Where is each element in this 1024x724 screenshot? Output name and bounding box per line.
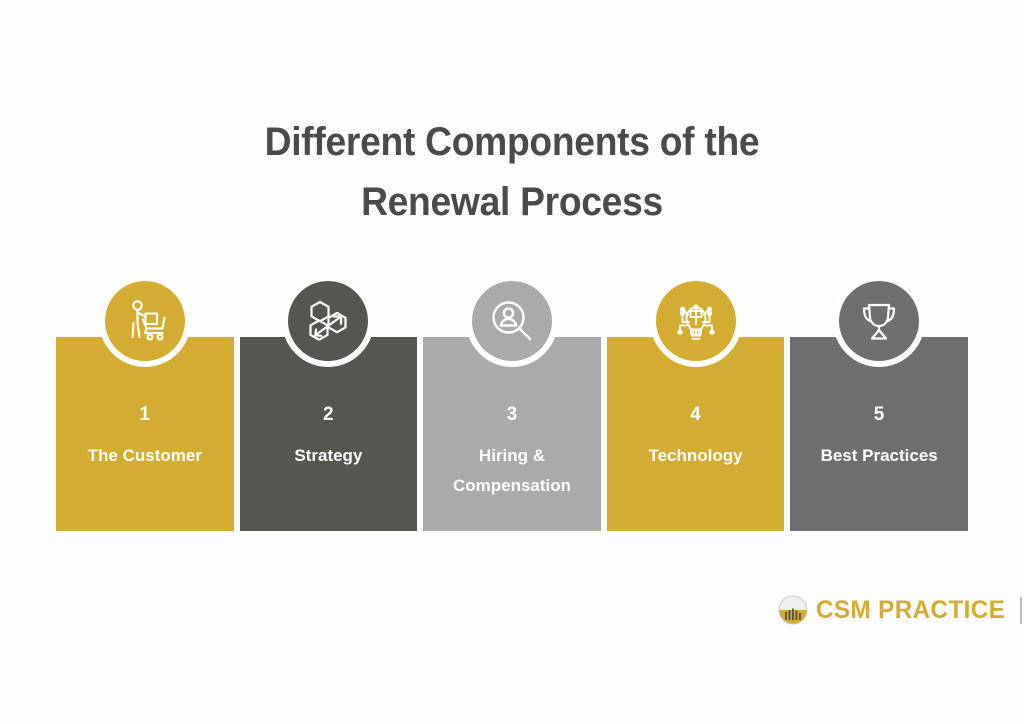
component-column-2[interactable]: 2 Strategy (240, 275, 418, 531)
column-label-5: Best Practices (815, 441, 944, 471)
page-title: Different Components of the Renewal Proc… (0, 112, 1024, 232)
component-column-5[interactable]: 5 Best Practices (790, 275, 968, 531)
logo-text: CSM PRACTICE (816, 596, 1005, 625)
column-label-4: Technology (643, 441, 749, 471)
column-badge-1 (99, 275, 191, 367)
component-column-4[interactable]: 4 Technology (607, 275, 785, 531)
trophy-best-practices-icon (839, 281, 919, 361)
infographic-slide: Different Components of the Renewal Proc… (0, 0, 1024, 724)
csm-practice-circle-mark (778, 595, 808, 625)
logo-divider (1020, 597, 1022, 624)
component-columns: 1 The Customer (56, 275, 968, 531)
column-badge-2 (282, 275, 374, 367)
column-label-2: Strategy (288, 441, 368, 471)
component-column-1[interactable]: 1 The Customer (56, 275, 234, 531)
column-number-3: 3 (507, 403, 518, 427)
magnifier-person-hiring-icon (472, 281, 552, 361)
column-label-1: The Customer (82, 441, 208, 471)
column-number-2: 2 (323, 403, 334, 427)
column-number-5: 5 (874, 403, 885, 427)
column-number-1: 1 (139, 403, 150, 427)
shopping-cart-customer-icon (105, 281, 185, 361)
hexagon-arrow-strategy-icon (288, 281, 368, 361)
column-badge-4 (650, 275, 742, 367)
column-badge-5 (833, 275, 925, 367)
component-column-3[interactable]: 3 Hiring & Compensation (423, 275, 601, 531)
lightbulb-circuit-technology-icon (656, 281, 736, 361)
column-label-3: Hiring & Compensation (447, 441, 577, 501)
title-line-2: Renewal Process (36, 172, 988, 232)
title-line-1: Different Components of the (36, 112, 988, 172)
column-badge-3 (466, 275, 558, 367)
csm-practice-logo: CSM PRACTICE (778, 591, 1022, 629)
column-number-4: 4 (690, 403, 701, 427)
